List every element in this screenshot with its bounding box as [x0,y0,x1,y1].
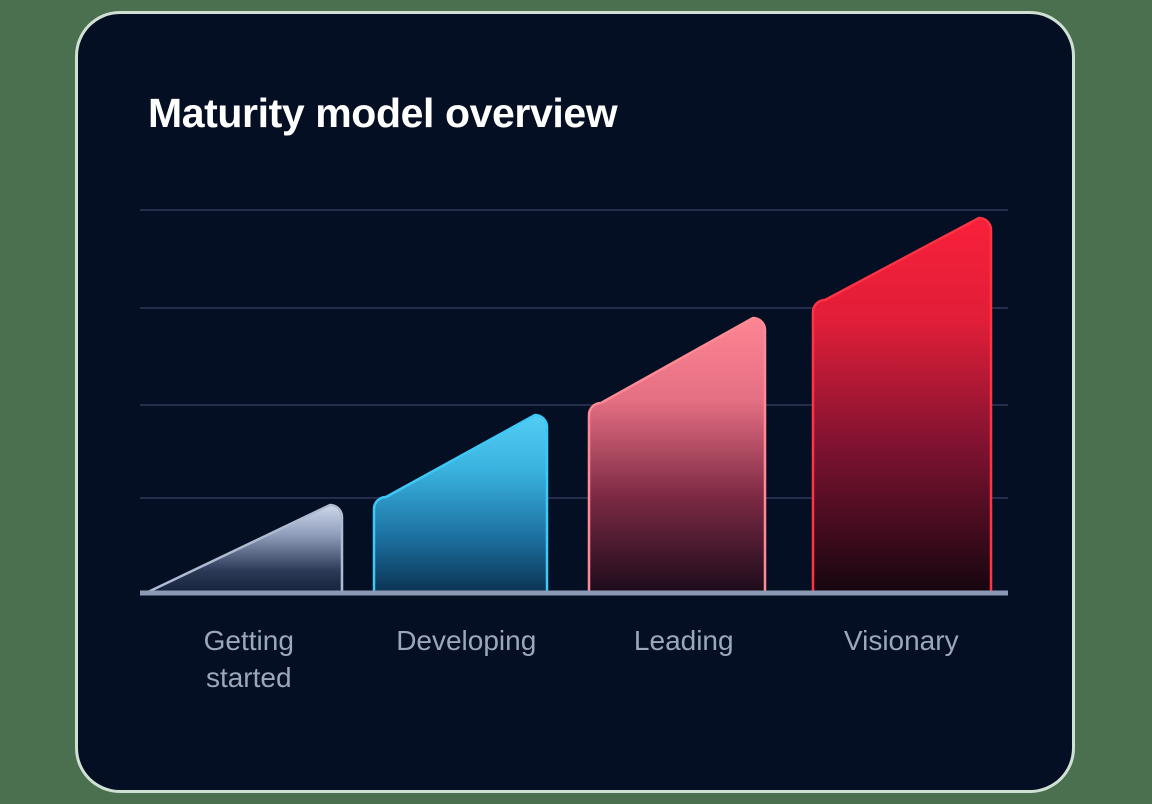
x-label-getting-started: Getting started [140,622,358,696]
x-label-line1: Getting [146,622,352,659]
x-label-line1: Developing [364,622,570,659]
maturity-model-card: Maturity model overview [78,14,1072,790]
screenshot-root: Maturity model overview [0,0,1152,804]
bar-visionary [813,218,991,592]
x-label-line1: Visionary [799,622,1005,659]
x-label-leading: Leading [575,622,793,659]
x-axis-tick-labels: Getting started Developing Leading Visio… [140,622,1010,732]
bar-getting-started [148,505,342,592]
maturity-bar-chart: Getting started Developing Leading Visio… [78,14,1072,790]
x-label-developing: Developing [358,622,576,659]
x-label-line1: Leading [581,622,787,659]
bar-leading [589,318,765,592]
bar-developing [374,415,547,592]
x-label-visionary: Visionary [793,622,1011,659]
x-label-line2: started [146,659,352,696]
